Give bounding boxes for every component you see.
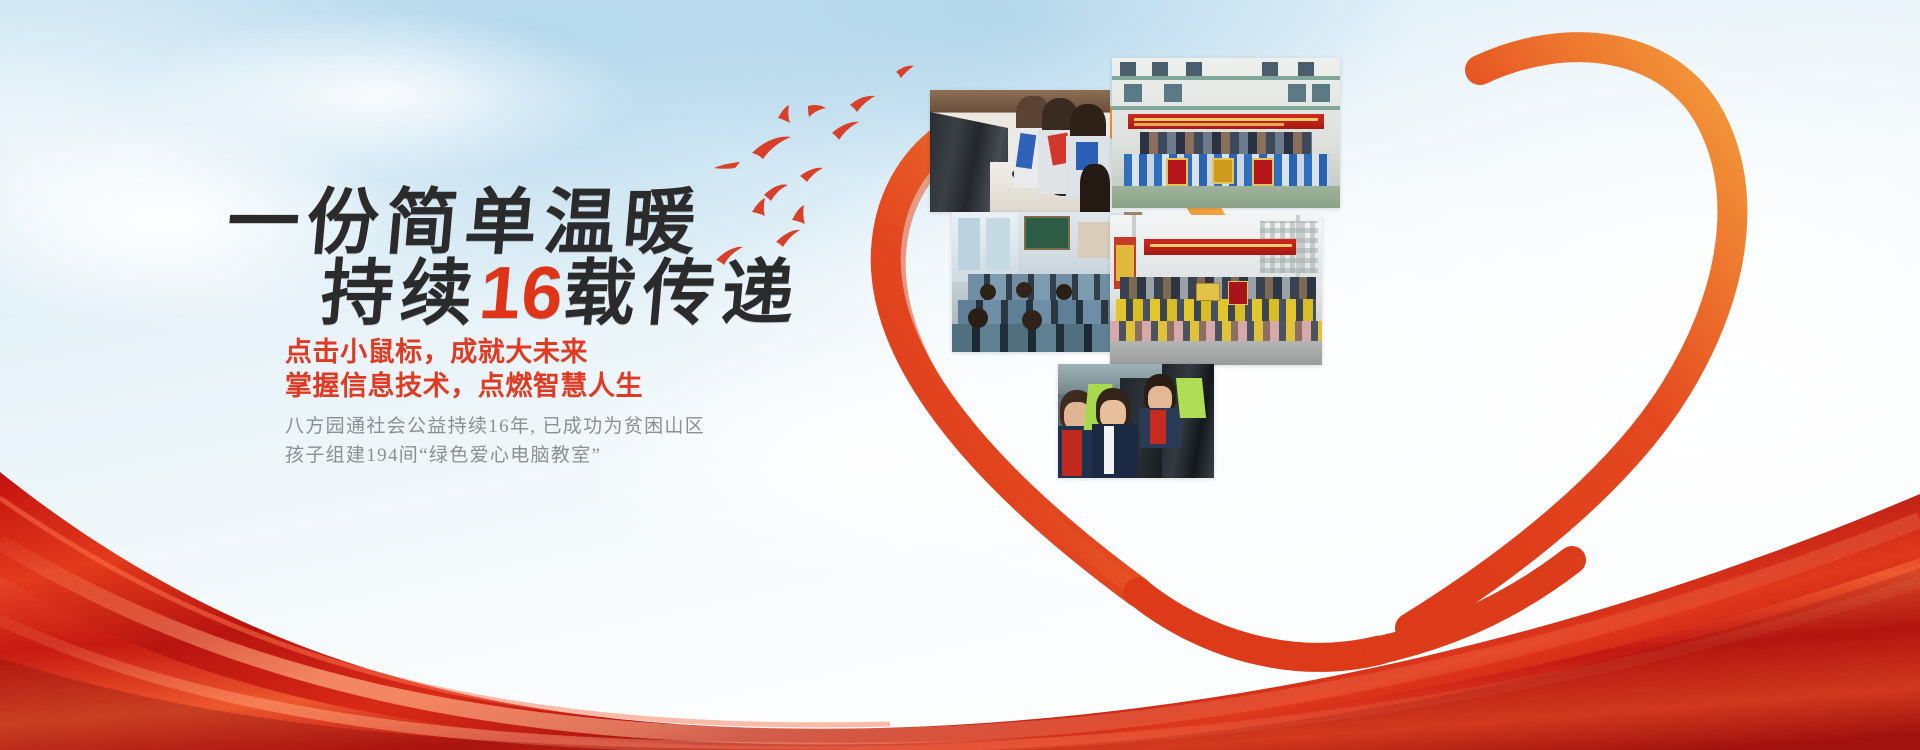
photo-indoor-donation-ceremony-group bbox=[1110, 215, 1322, 365]
charity-hero-banner: 一份简单温暖 持续16载传递 点击小鼠标，成就大未来 掌握信息技术，点燃智慧人生… bbox=[0, 0, 1920, 750]
body-line-1: 八方园通社会公益持续16年, 已成功为贫困山区 bbox=[285, 411, 705, 438]
headline-years-number: 16 bbox=[476, 251, 567, 334]
photo-school-donation-ceremony-group bbox=[1112, 58, 1340, 208]
photo-students-at-computers-classroom bbox=[930, 90, 1110, 212]
subtitle-line-2: 掌握信息技术，点燃智慧人生 bbox=[285, 364, 643, 403]
red-silk-wave-ribbon-icon bbox=[0, 450, 1920, 750]
headline-line-2-prefix: 持续 bbox=[318, 254, 483, 334]
